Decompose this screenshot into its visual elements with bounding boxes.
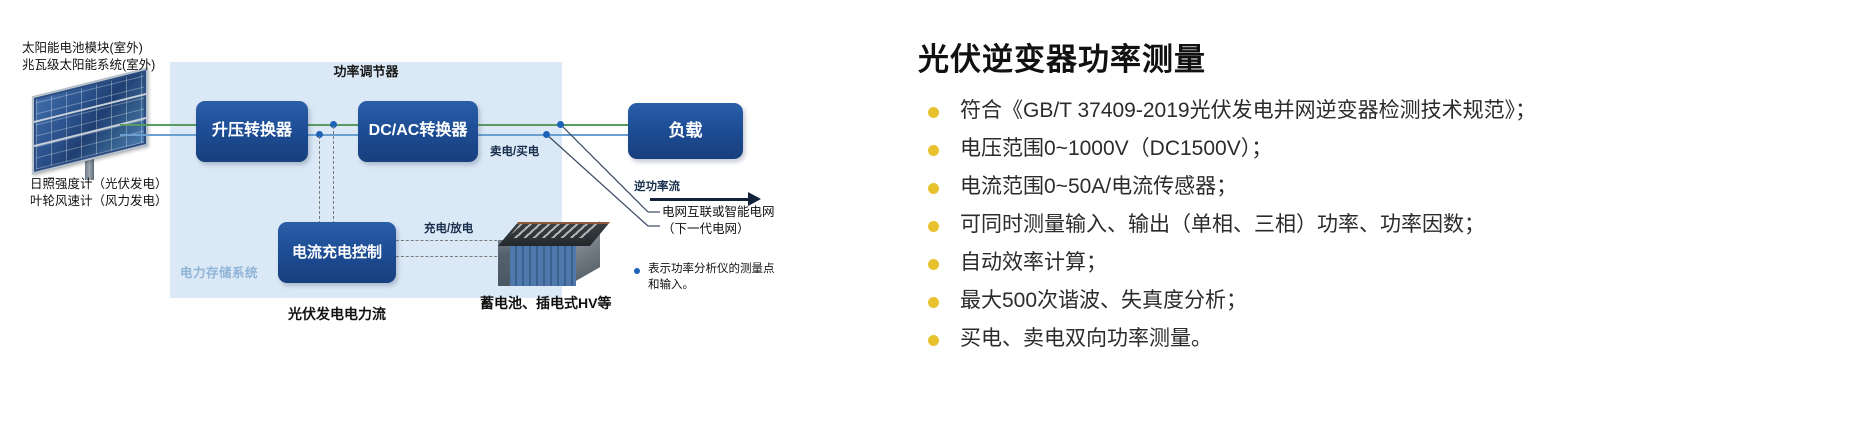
spec-bullet-list: 符合《GB/T 37409-2019光伏发电并网逆变器检测技术规范》； 电压范围… — [918, 92, 1868, 358]
power-conditioner-title: 功率调节器 — [170, 62, 562, 82]
bullet-dot-icon — [928, 335, 939, 346]
block-boost-converter[interactable]: 升压转换器 — [196, 101, 308, 162]
battery-caption: 蓄电池、插电式HV等 — [480, 294, 611, 313]
solar-module-caption-line1: 太阳能电池模块(室外) — [22, 40, 155, 57]
power-system-diagram: 功率调节器 电力存储系统 太阳能电池模块(室外) 兆瓦级太阳能系统(室外) 日照… — [0, 0, 880, 430]
solar-panel-illustration — [30, 82, 150, 174]
reverse-power-arrow-line — [650, 198, 750, 201]
block-charge-controller[interactable]: 电流充电控制 — [278, 222, 396, 283]
list-item: 可同时测量输入、输出（单相、三相）功率、功率因数； — [918, 206, 1868, 244]
block-dcac-converter[interactable]: DC/AC转换器 — [358, 101, 478, 162]
list-item: 自动效率计算； — [918, 244, 1868, 282]
pv-power-flow-caption: 光伏发电电力流 — [288, 305, 386, 324]
wire-solar-boost-blue — [120, 134, 198, 136]
solar-module-caption: 太阳能电池模块(室外) 兆瓦级太阳能系统(室外) — [22, 40, 155, 74]
meter-caption: 日照强度计（光伏发电） 叶轮风速计（风力发电） — [30, 176, 168, 210]
solar-module-caption-line2: 兆瓦级太阳能系统(室外) — [22, 57, 155, 74]
bullet-dot-icon — [928, 221, 939, 232]
dashed-charge-battery-1 — [396, 240, 502, 241]
solar-panel-face — [32, 68, 148, 175]
page-title: 光伏逆变器功率测量 — [918, 34, 1206, 79]
bullet-dot-icon — [928, 183, 939, 194]
list-item-label: 可同时测量输入、输出（单相、三相）功率、功率因数； — [960, 213, 1485, 236]
dashed-link-bus-charge-2 — [319, 136, 320, 224]
battery-cells — [510, 242, 576, 286]
spec-panel: 光伏逆变器功率测量 符合《GB/T 37409-2019光伏发电并网逆变器检测技… — [900, 0, 1874, 430]
legend-measure-dot-icon — [634, 268, 640, 274]
anemometer-caption: 叶轮风速计（风力发电） — [30, 193, 168, 210]
label-charge-discharge: 充电/放电 — [424, 220, 473, 236]
bullet-dot-icon — [928, 297, 939, 308]
grid-interconnect-line1: 电网互联或智能电网 — [662, 204, 775, 221]
battery-terminals — [508, 224, 600, 238]
wire-dcac-load-blue — [476, 134, 630, 136]
grid-interconnect-caption: 电网互联或智能电网 （下一代电网） — [662, 204, 775, 238]
list-item-label: 电流范围0~50A/电流传感器； — [960, 175, 1237, 198]
energy-storage-system-label: 电力存储系统 — [180, 262, 258, 281]
legend-line2: 和输入。 — [648, 277, 828, 293]
list-item: 电流范围0~50A/电流传感器； — [918, 168, 1868, 206]
label-reverse-power-flow: 逆功率流 — [634, 178, 680, 194]
measure-point-grid-green — [557, 121, 564, 128]
list-item: 电压范围0~1000V（DC1500V）； — [918, 130, 1868, 168]
bullet-dot-icon — [928, 259, 939, 270]
list-item-label: 电压范围0~1000V（DC1500V）； — [960, 137, 1272, 160]
list-item: 买电、卖电双向功率测量。 — [918, 320, 1868, 358]
legend-line1: 表示功率分析仪的测量点 — [648, 261, 828, 277]
list-item-label: 自动效率计算； — [960, 251, 1107, 274]
block-load[interactable]: 负载 — [628, 103, 743, 159]
dashed-link-bus-charge-1 — [333, 126, 334, 224]
pyranometer-caption: 日照强度计（光伏发电） — [30, 176, 168, 193]
list-item: 符合《GB/T 37409-2019光伏发电并网逆变器检测技术规范》； — [918, 92, 1868, 130]
slide-canvas: 功率调节器 电力存储系统 太阳能电池模块(室外) 兆瓦级太阳能系统(室外) 日照… — [0, 0, 1874, 430]
list-item: 最大500次谐波、失真度分析； — [918, 282, 1868, 320]
list-item-label: 最大500次谐波、失真度分析； — [960, 289, 1247, 312]
grid-interconnect-line2: （下一代电网） — [662, 221, 775, 238]
wire-solar-boost-green — [120, 124, 198, 126]
bullet-dot-icon — [928, 145, 939, 156]
dashed-charge-battery-2 — [396, 256, 502, 257]
list-item-label: 买电、卖电双向功率测量。 — [960, 327, 1212, 350]
legend-text: 表示功率分析仪的测量点 和输入。 — [648, 261, 828, 293]
label-sell-buy-power: 卖电/买电 — [490, 143, 539, 159]
battery-illustration — [498, 222, 602, 290]
list-item-label: 符合《GB/T 37409-2019光伏发电并网逆变器检测技术规范》； — [960, 99, 1536, 122]
wire-dcac-load-green — [476, 124, 630, 126]
bullet-dot-icon — [928, 107, 939, 118]
measure-point-grid-blue — [543, 131, 550, 138]
